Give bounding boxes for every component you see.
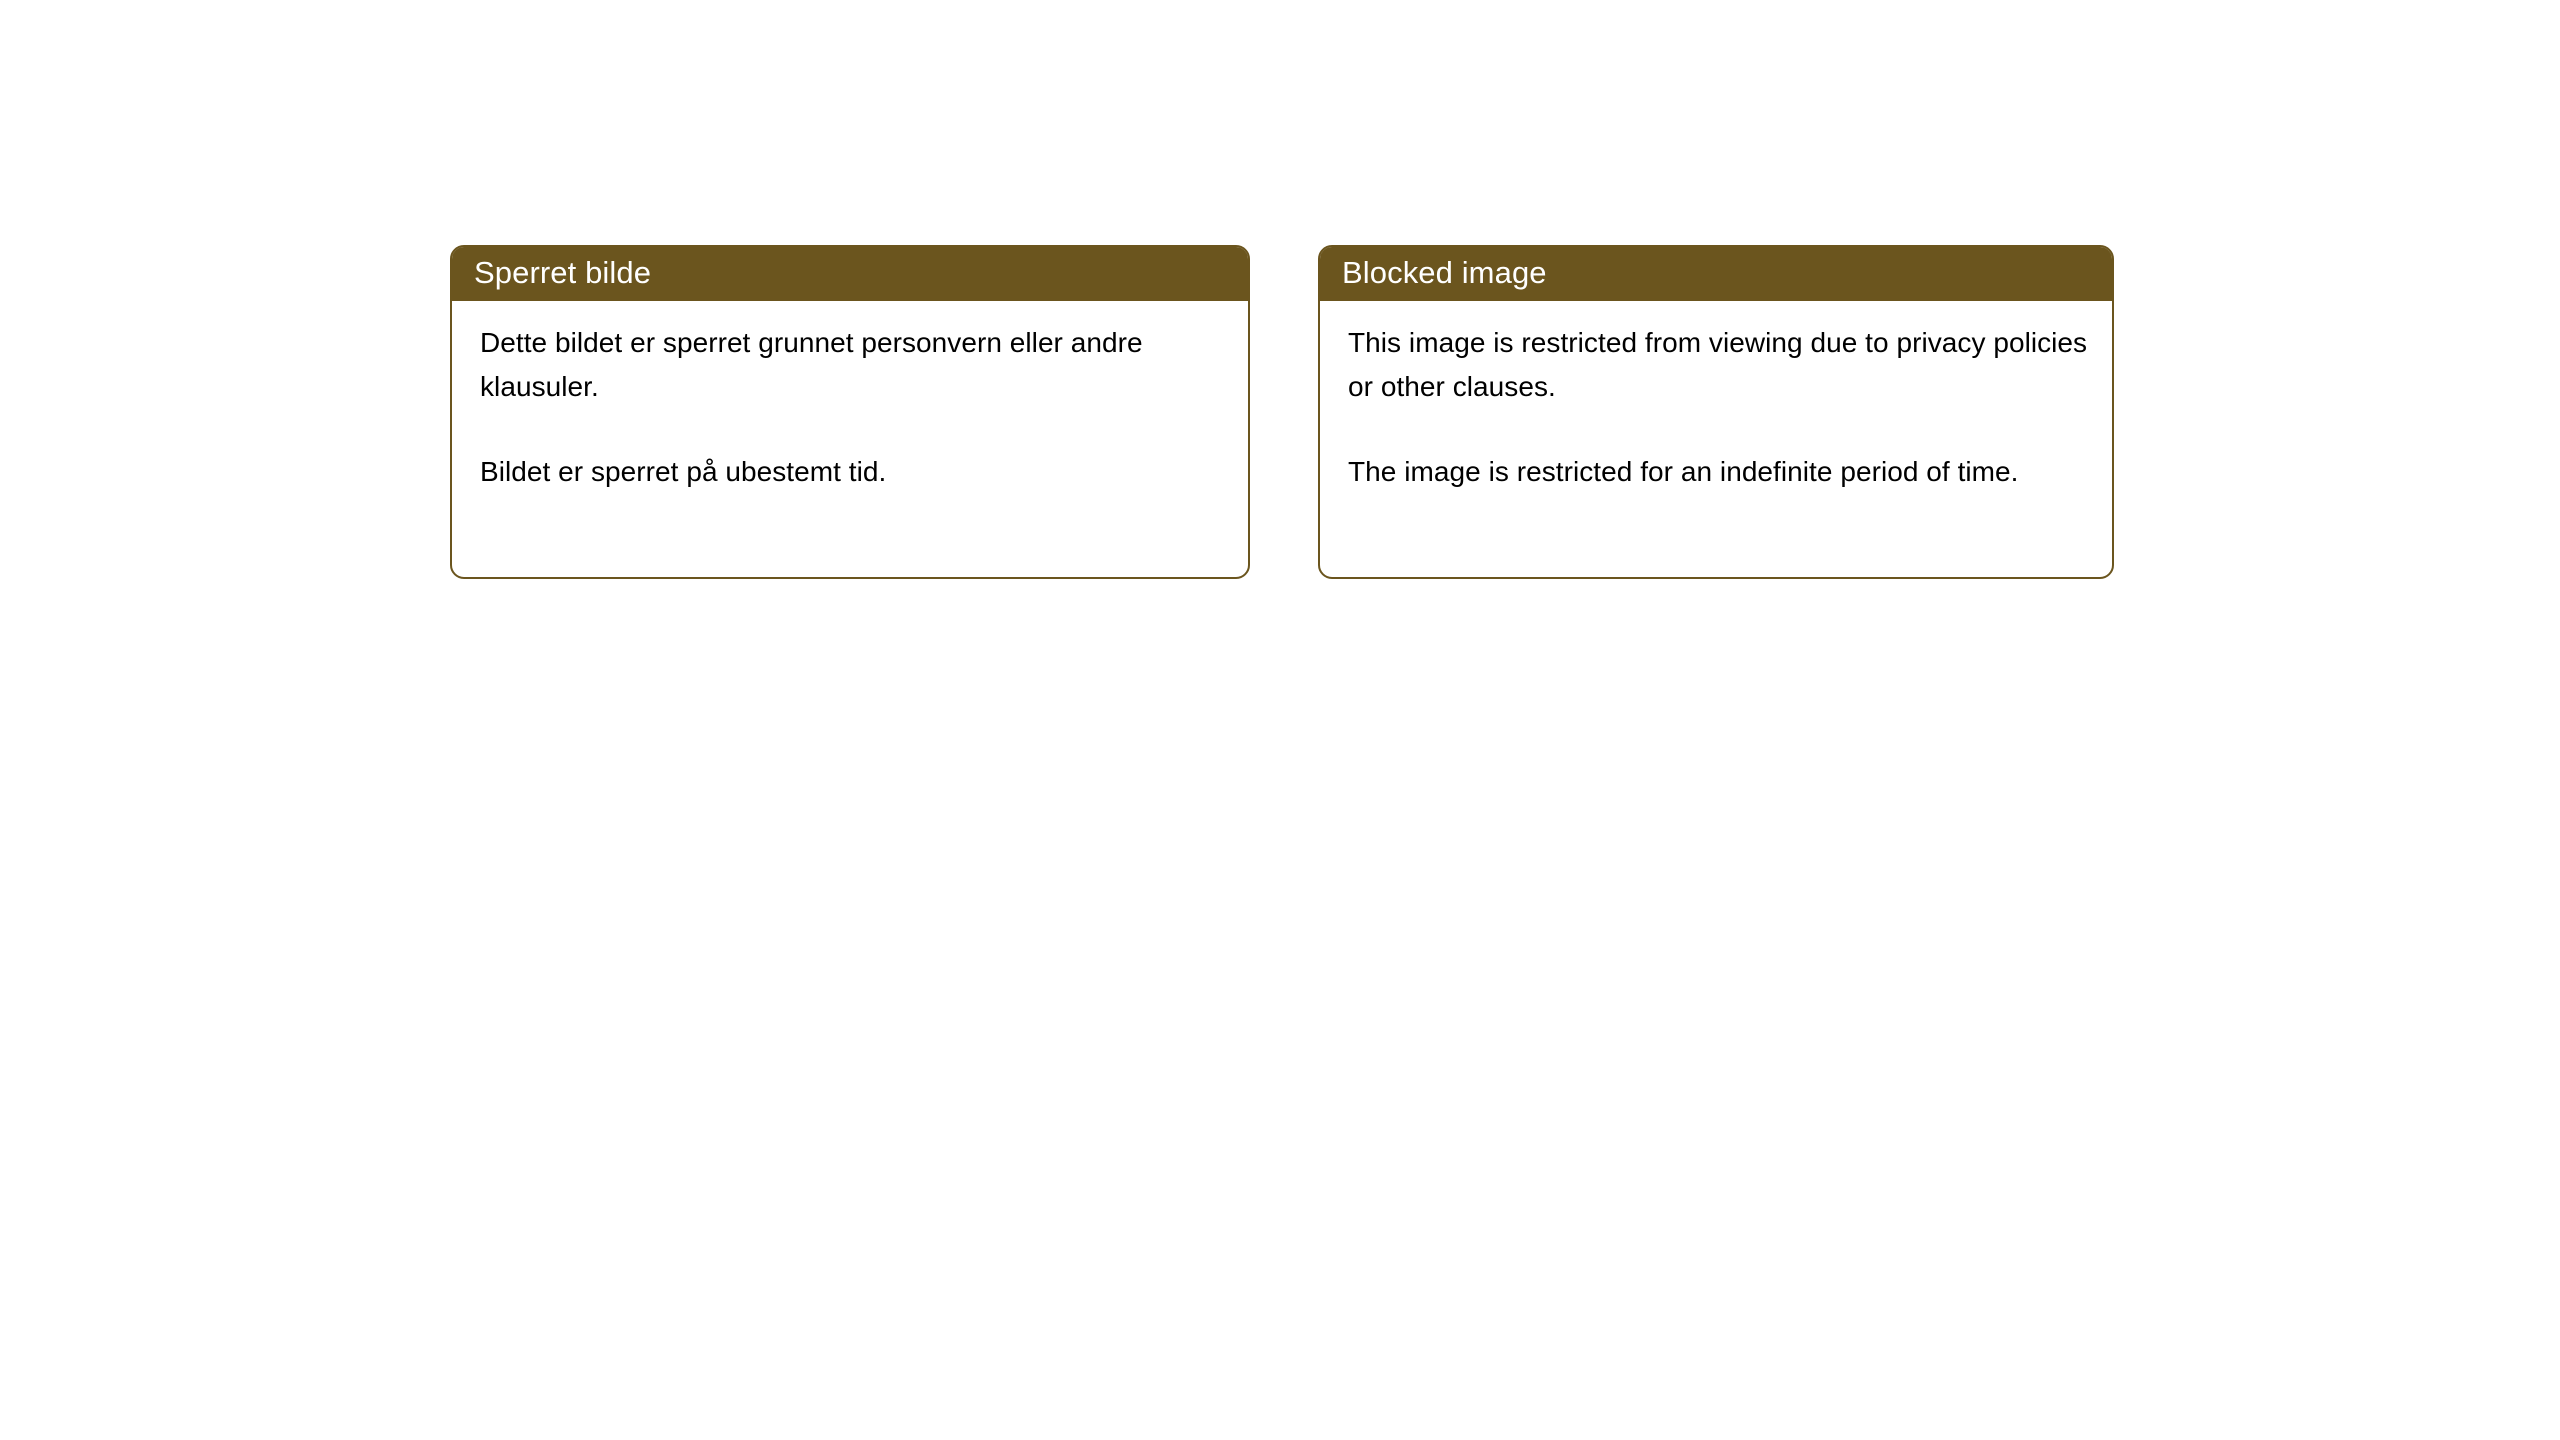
card-body-norwegian: Dette bildet er sperret grunnet personve… (452, 301, 1248, 494)
blocked-image-card-norwegian: Sperret bilde Dette bildet er sperret gr… (450, 245, 1250, 579)
card-paragraph: Bildet er sperret på ubestemt tid. (480, 450, 1224, 494)
card-paragraph: This image is restricted from viewing du… (1348, 321, 2088, 409)
card-header-norwegian: Sperret bilde (450, 245, 1250, 301)
card-paragraph: The image is restricted for an indefinit… (1348, 450, 2088, 494)
blocked-image-card-english: Blocked image This image is restricted f… (1318, 245, 2114, 579)
card-title-norwegian: Sperret bilde (474, 256, 651, 290)
card-body-english: This image is restricted from viewing du… (1320, 301, 2112, 494)
page-canvas: Sperret bilde Dette bildet er sperret gr… (0, 0, 2560, 1440)
card-paragraph: Dette bildet er sperret grunnet personve… (480, 321, 1224, 409)
card-header-english: Blocked image (1318, 245, 2114, 301)
card-title-english: Blocked image (1342, 256, 1547, 290)
